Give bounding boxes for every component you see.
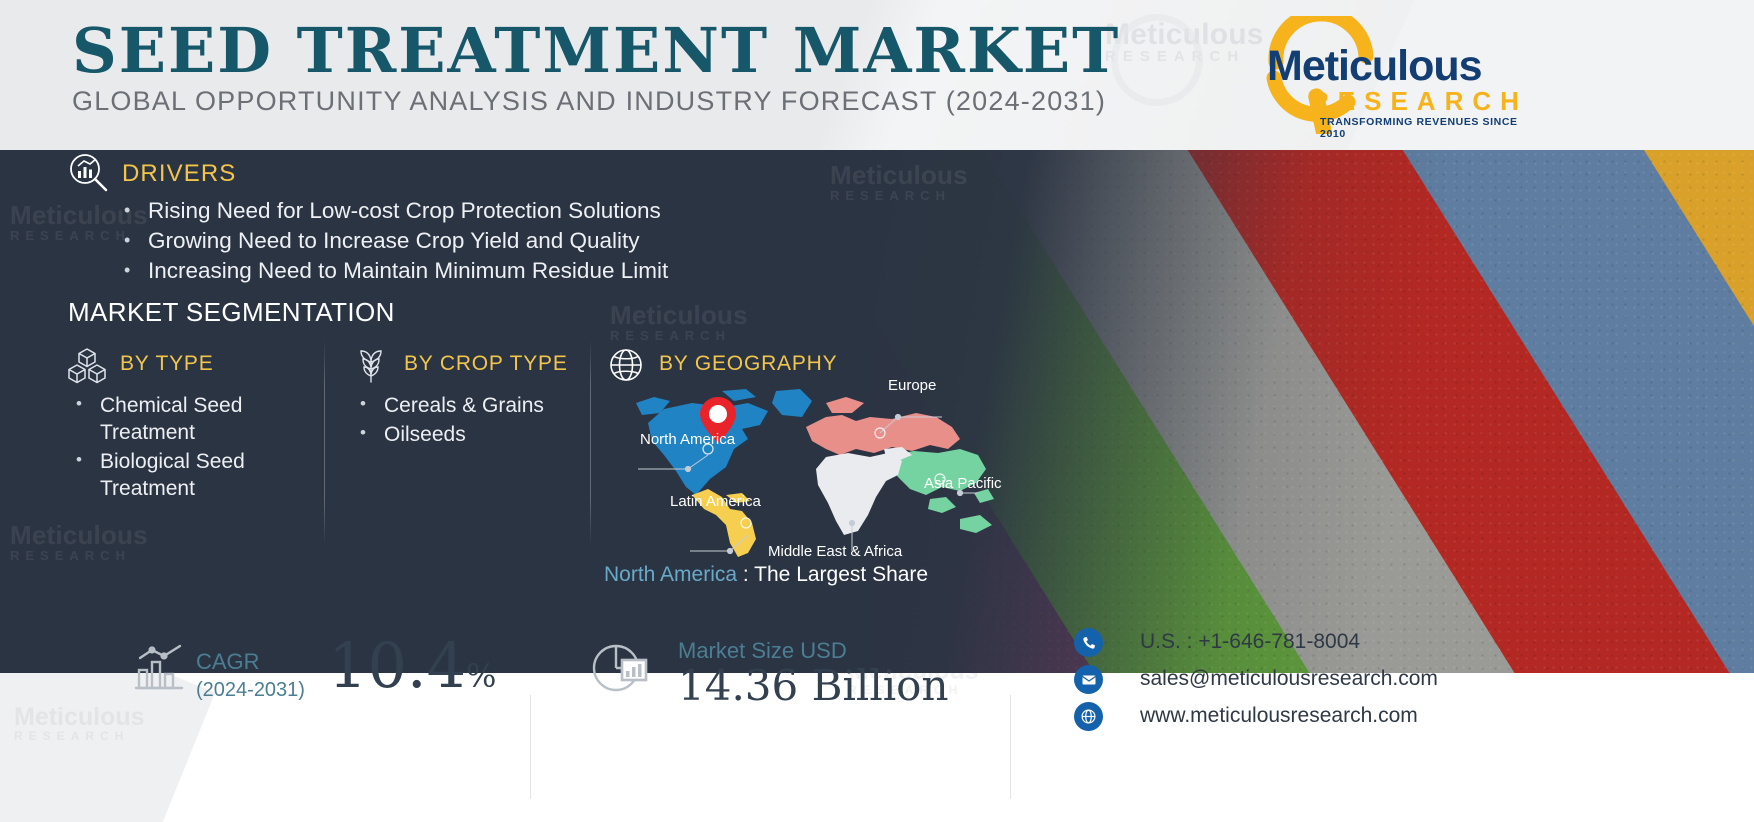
watermark-line1: Meticulous (14, 703, 145, 732)
bar-chart-icon (130, 642, 186, 694)
body-watermark-bottom: Meticulous RESEARCH (10, 520, 148, 563)
segment-column-by-geography: BY GEOGRAPHY (607, 352, 1007, 376)
logo-wordmark: Meticulous (1267, 42, 1482, 91)
map-label-europe: Europe (888, 377, 936, 395)
watermark-magnifier-icon (1111, 14, 1203, 106)
watermark-line2: RESEARCH (14, 729, 145, 743)
cubes-icon (68, 346, 106, 384)
watermark-line1: Meticulous (10, 520, 148, 551)
footer-divider (1010, 695, 1011, 799)
map-region-greenland (772, 389, 812, 417)
map-label-latin-america: Latin America (670, 493, 728, 511)
page-title: SEED TREATMENT MARKET (72, 16, 1120, 86)
segment-item: Oilseeds (352, 421, 582, 448)
mail-icon (1074, 665, 1103, 694)
market-segmentation-heading: MARKET SEGMENTATION (68, 297, 395, 328)
contact-email: sales@meticulousresearch.com (1140, 665, 1438, 693)
header-bar: Meticulous RESEARCH SEED TREATMENT MARKE… (0, 0, 1754, 150)
driver-item: Growing Need to Increase Crop Yield and … (118, 226, 668, 256)
contact-website: www.meticulousresearch.com (1140, 702, 1418, 730)
cagr-unit: % (466, 657, 496, 695)
seed-photo-background (874, 150, 1754, 673)
map-region-middle-east-africa (816, 447, 912, 535)
phone-icon (1074, 628, 1103, 657)
map-label-middle-east-africa: Middle East & Africa (768, 543, 902, 561)
wheat-icon (352, 346, 390, 384)
segment-item: Biological Seed Treatment (68, 448, 318, 502)
segment-item: Chemical Seed Treatment (68, 392, 318, 446)
market-size-value: 14.36 Billion (678, 660, 949, 712)
driver-item: Rising Need for Low-cost Crop Protection… (118, 196, 668, 226)
column-divider (324, 340, 325, 545)
segment-title: BY CROP TYPE (404, 352, 582, 376)
watermark-line2: RESEARCH (610, 328, 748, 343)
contact-phone: U.S. : +1-646-781-8004 (1140, 628, 1360, 656)
logo-research-word: RESEARCH (1310, 86, 1528, 117)
footer-watermark-left: Meticulous RESEARCH (14, 703, 145, 743)
watermark-line1: Meticulous (610, 300, 748, 331)
cagr-value: 10.4 (328, 629, 466, 702)
map-region-europe (806, 397, 960, 455)
world-map-svg (630, 383, 1000, 558)
cagr-value-block: 10.4% (328, 630, 496, 712)
cagr-label-block: CAGR (2024-2031) (196, 648, 305, 704)
globe-icon (1074, 702, 1103, 731)
map-label-north-america: North America (640, 431, 704, 449)
footer-divider (530, 695, 531, 799)
segment-title: BY GEOGRAPHY (659, 352, 1007, 376)
segment-column-by-type: BY TYPE Chemical Seed Treatment Biologic… (68, 352, 318, 504)
map-label-asia-pacific: Asia Pacific (924, 475, 976, 493)
drivers-list: Rising Need for Low-cost Crop Protection… (118, 196, 668, 286)
segment-title: BY TYPE (120, 352, 318, 376)
driver-item: Increasing Need to Maintain Minimum Resi… (118, 256, 668, 286)
infographic-canvas: Meticulous RESEARCH SEED TREATMENT MARKE… (0, 0, 1754, 822)
segment-item: Cereals & Grains (352, 392, 582, 419)
segment-column-by-crop-type: BY CROP TYPE Cereals & Grains Oilseeds (352, 352, 582, 450)
page-subtitle: GLOBAL OPPORTUNITY ANALYSIS AND INDUSTRY… (72, 86, 1106, 117)
pie-chart-icon (588, 640, 654, 696)
globe-icon (607, 346, 645, 384)
body-watermark-mid: Meticulous RESEARCH (610, 300, 748, 343)
meticulous-research-logo[interactable]: Meticulous RESEARCH TRANSFORMING REVENUE… (1262, 16, 1540, 134)
map-caption-highlight: North America (604, 563, 737, 586)
map-caption: North America : The Largest Share (604, 563, 928, 587)
cagr-period: (2024-2031) (196, 676, 305, 704)
world-map: North America Latin America Europe Asia … (630, 383, 1000, 558)
column-divider (590, 340, 591, 545)
logo-tagline: TRANSFORMING REVENUES SINCE 2010 (1320, 116, 1540, 140)
map-caption-separator: : (737, 563, 754, 586)
watermark-line2: RESEARCH (10, 548, 148, 563)
chart-magnifier-icon (68, 152, 110, 194)
map-caption-rest: The Largest Share (754, 563, 928, 586)
cagr-label: CAGR (196, 648, 305, 676)
drivers-heading: DRIVERS (122, 160, 236, 188)
